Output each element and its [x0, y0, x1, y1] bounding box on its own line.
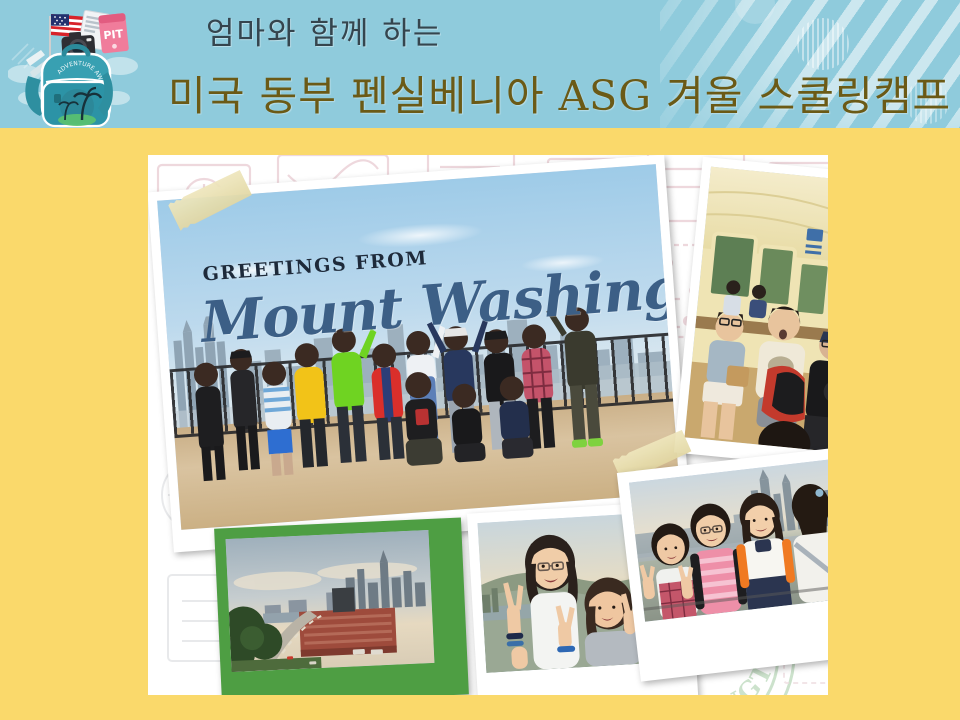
postcard-image: GREETINGS FROM Mount Washington	[157, 164, 680, 530]
incline-interior-details	[684, 167, 828, 454]
students-group-image	[629, 457, 828, 622]
students-group-overlook-photo[interactable]	[617, 442, 828, 681]
gallery-panel: WASHINGTON	[148, 155, 828, 695]
page-header: PIT	[0, 0, 960, 128]
cityscape-details	[226, 530, 435, 672]
pittsburgh-cityscape-photo[interactable]	[214, 517, 469, 695]
cityscape-image	[226, 530, 435, 672]
header-title: 미국 동부 펜실베니아 ASG 겨울 스쿨링캠프	[168, 62, 951, 122]
mount-washington-postcard[interactable]: GREETINGS FROM Mount Washington	[148, 155, 691, 552]
svg-text:PIT: PIT	[103, 27, 124, 42]
students-group-figures	[629, 457, 828, 622]
incline-cabin-image	[684, 167, 828, 454]
header-subtitle: 엄마와 함께 하는	[206, 8, 443, 53]
travel-backpack-logo: PIT	[8, 2, 140, 128]
